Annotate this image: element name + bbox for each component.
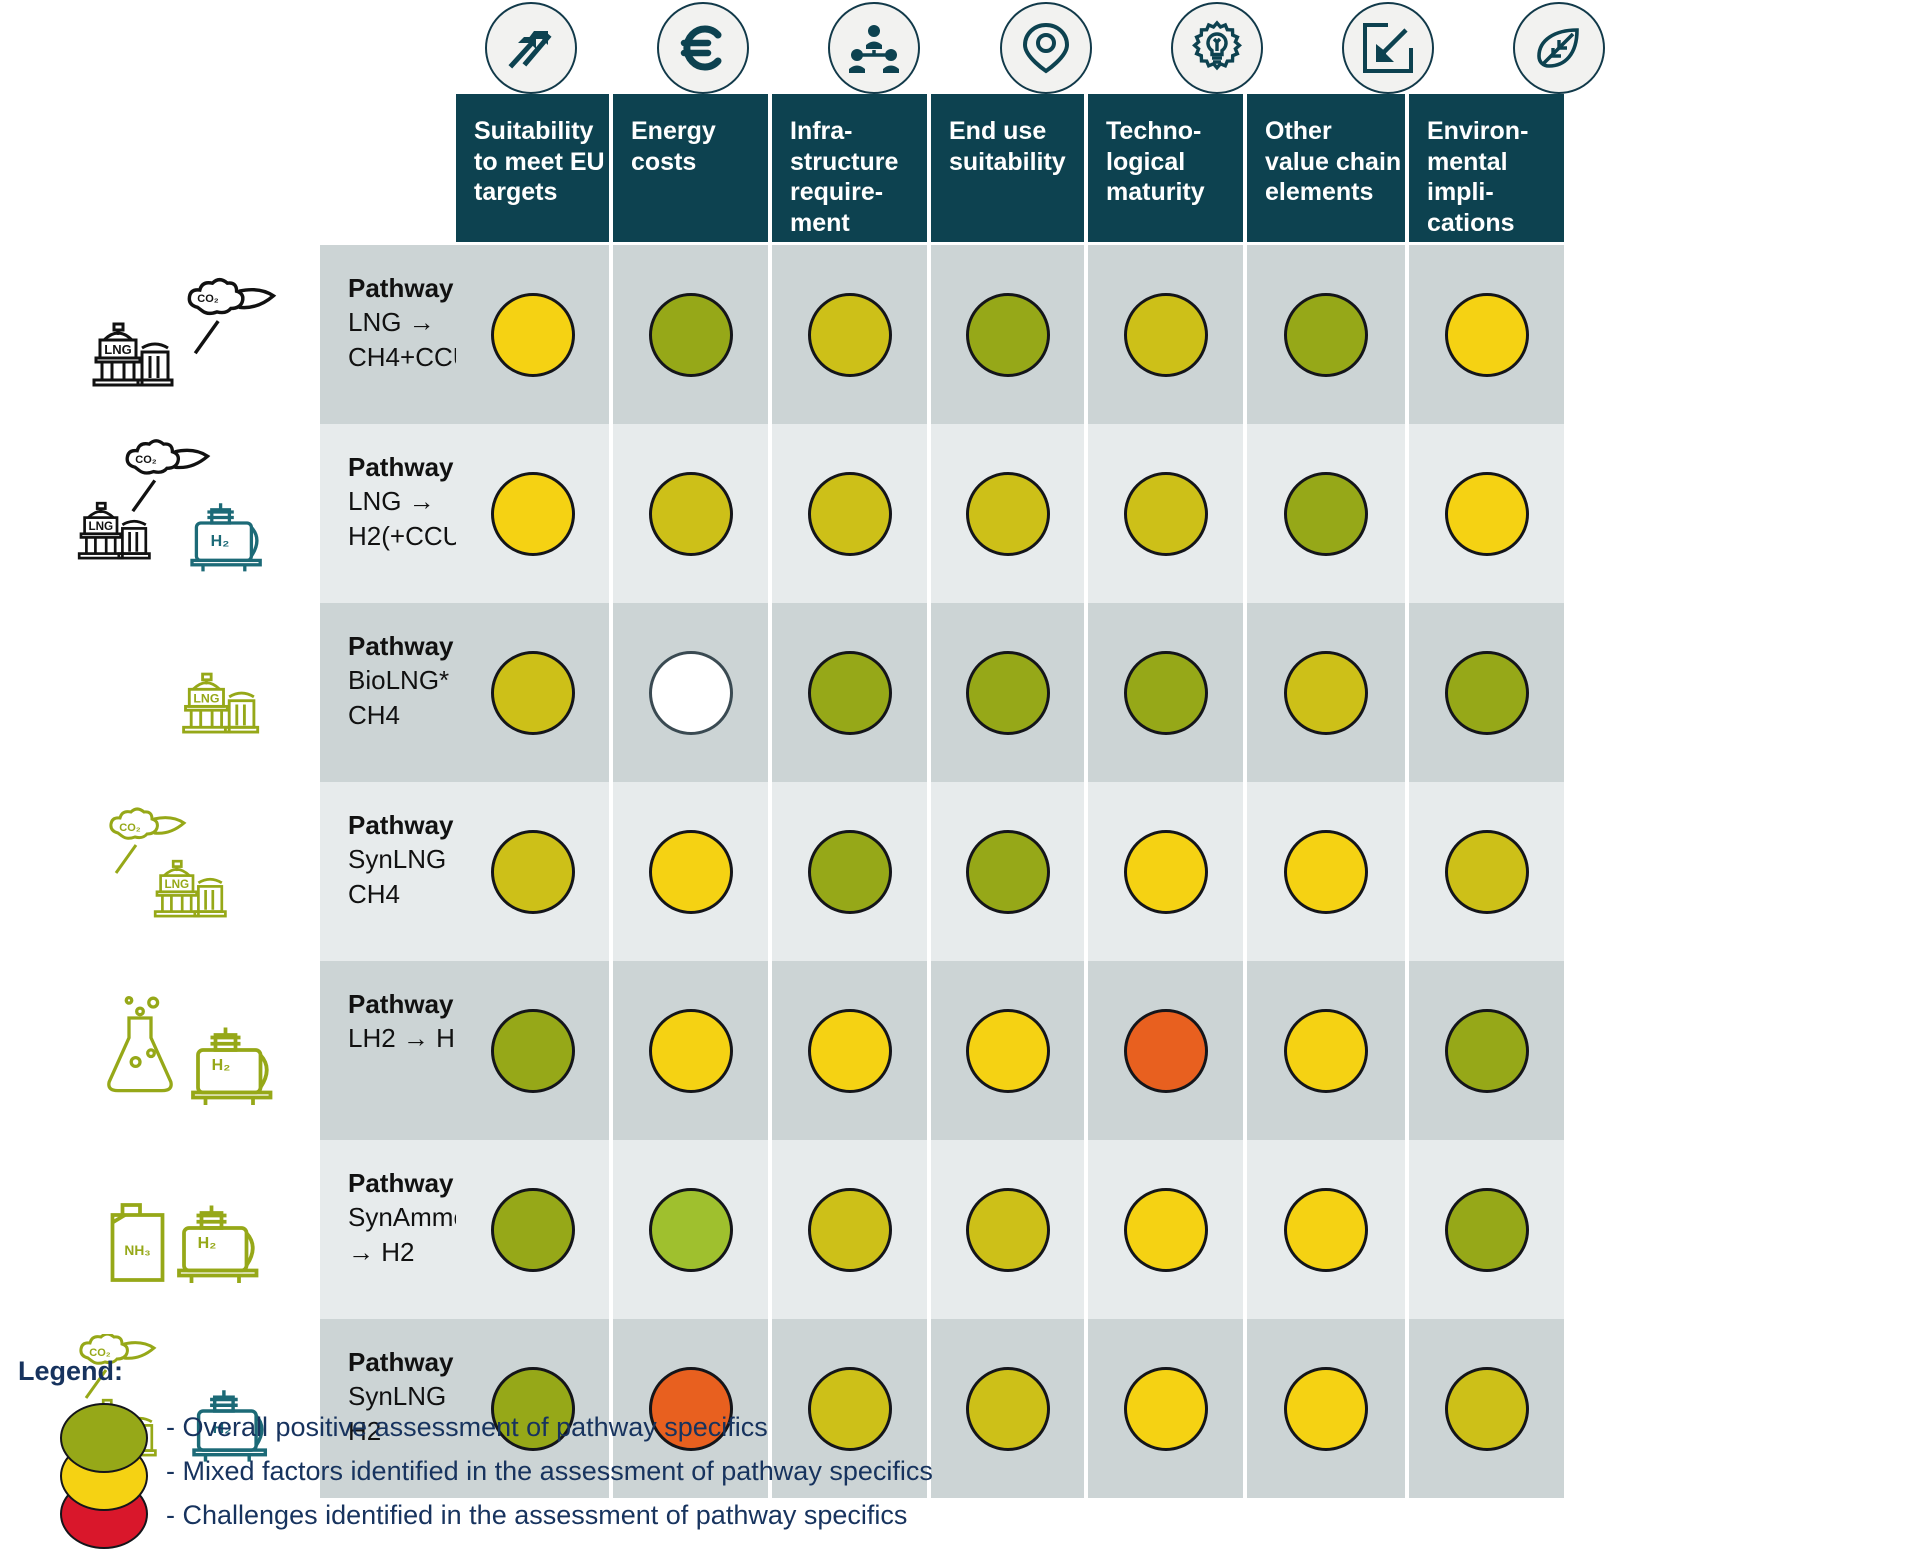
cell-pathway-3c-infrastructure-requirement[interactable]	[772, 1140, 927, 1319]
cell-pathway-0-other-value-chain-elements[interactable]	[1247, 245, 1405, 424]
column-header-environmental-implications: Environ- mental impli- cations	[1409, 94, 1564, 242]
rating-dot-yellow	[1284, 830, 1368, 914]
cell-pathway-3a-energy-costs[interactable]	[613, 961, 768, 1140]
cell-pathway-3a-other-value-chain-elements[interactable]	[1247, 961, 1405, 1140]
cell-pathway-2b-end-use-suitability[interactable]	[931, 782, 1084, 961]
svg-text:LNG: LNG	[104, 342, 131, 357]
rating-dot-yg	[1124, 472, 1208, 556]
rating-dot-yg	[808, 1188, 892, 1272]
column-header-infrastructure-requirement: Infra- structure require- ment	[772, 94, 927, 242]
ammonia-canister-h2-tank-icon: NH₃ H₂	[0, 1140, 320, 1319]
rating-dot-green	[966, 830, 1050, 914]
pathway-assessment-matrix: Suitability to meet EU targets Energy co…	[0, 0, 1920, 1564]
svg-text:NH₃: NH₃	[124, 1243, 150, 1258]
rating-dot-green	[1284, 472, 1368, 556]
cell-pathway-3c-technological-maturity[interactable]	[1088, 1140, 1243, 1319]
legend-entries: - Overall positive assessment of pathway…	[166, 1405, 933, 1537]
column-header-technological-maturity: Techno- logical maturity	[1088, 94, 1243, 242]
rating-dot-yellow	[1284, 1367, 1368, 1451]
rating-dot-green	[491, 1009, 575, 1093]
rating-dot-yg	[1445, 1367, 1529, 1451]
column-icon-row	[320, 0, 1920, 100]
euro-icon	[657, 2, 749, 94]
column-header-end-use-suitability: End use suitability	[931, 94, 1084, 242]
legend-title: Legend:	[18, 1356, 1218, 1387]
legend-dot-green	[60, 1403, 148, 1473]
rating-dot-green	[491, 1188, 575, 1272]
legend-color-stack	[60, 1403, 170, 1543]
svg-text:CO₂: CO₂	[197, 293, 219, 305]
cell-pathway-0-end-use-suitability[interactable]	[931, 245, 1084, 424]
svg-text:LNG: LNG	[88, 520, 113, 533]
cell-pathway-0-infrastructure-requirement[interactable]	[772, 245, 927, 424]
rating-dot-yg	[966, 472, 1050, 556]
rating-dot-yellow	[1445, 472, 1529, 556]
cell-pathway-3c-suitability-eu-targets[interactable]	[456, 1140, 609, 1319]
cell-pathway-2b-other-value-chain-elements[interactable]	[1247, 782, 1405, 961]
rating-dot-yg	[1445, 830, 1529, 914]
legend-entry-positive: - Overall positive assessment of pathway…	[166, 1405, 933, 1449]
flask-h2-tank-icon: H₂	[0, 961, 320, 1140]
cell-pathway-1a-energy-costs[interactable]	[613, 424, 768, 603]
table-row: LNGPathway 2A:BioLNG* -> CH4	[0, 603, 1920, 782]
cell-pathway-3a-infrastructure-requirement[interactable]	[772, 961, 927, 1140]
rating-dot-yellow	[966, 1009, 1050, 1093]
cell-pathway-3a-technological-maturity[interactable]	[1088, 961, 1243, 1140]
lng-plant-co2-h2-tank-icon: LNG CO₂ H₂	[0, 424, 320, 603]
rating-dot-yg	[966, 1188, 1050, 1272]
lng-plant-co2-capture-dark-icon: LNG CO₂	[0, 245, 320, 424]
arrow-into-box-icon	[1342, 2, 1434, 94]
cell-pathway-2b-energy-costs[interactable]	[613, 782, 768, 961]
cell-pathway-0-environmental-implications[interactable]	[1409, 245, 1564, 424]
svg-text:CO₂: CO₂	[135, 454, 157, 466]
cell-pathway-0-energy-costs[interactable]	[613, 245, 768, 424]
cell-pathway-2b-infrastructure-requirement[interactable]	[772, 782, 927, 961]
cell-pathway-1a-infrastructure-requirement[interactable]	[772, 424, 927, 603]
legend-entry-mixed: - Mixed factors identified in the assess…	[166, 1449, 933, 1493]
cell-pathway-0-technological-maturity[interactable]	[1088, 245, 1243, 424]
cell-pathway-2a-infrastructure-requirement[interactable]	[772, 603, 927, 782]
rating-dot-yellow	[808, 1009, 892, 1093]
rating-dot-yellow	[491, 472, 575, 556]
rating-dot-yellow	[649, 1009, 733, 1093]
svg-text:LNG: LNG	[193, 691, 219, 705]
rating-dot-green	[649, 293, 733, 377]
cell-pathway-1a-other-value-chain-elements[interactable]	[1247, 424, 1405, 603]
rating-dot-yg	[491, 830, 575, 914]
cell-pathway-3a-suitability-eu-targets[interactable]	[456, 961, 609, 1140]
rating-dot-yg	[1124, 293, 1208, 377]
rating-dot-green	[1284, 293, 1368, 377]
column-header-energy-costs: Energy costs	[613, 94, 768, 242]
rating-dot-green	[966, 293, 1050, 377]
legend: Legend: - Overall positive assessment of…	[18, 1356, 1218, 1543]
table-row: LNG CO₂Pathway 2B:SynLNG → CH4	[0, 782, 1920, 961]
rating-dot-green	[1124, 651, 1208, 735]
rating-dot-yellow	[649, 830, 733, 914]
leaf-icon	[1513, 2, 1605, 94]
cell-pathway-2b-environmental-implications[interactable]	[1409, 782, 1564, 961]
rating-dot-green	[1445, 1009, 1529, 1093]
rating-dot-yg	[1284, 651, 1368, 735]
cell-pathway-1a-environmental-implications[interactable]	[1409, 424, 1564, 603]
svg-text:CO₂: CO₂	[119, 822, 141, 834]
cell-pathway-2b-suitability-eu-targets[interactable]	[456, 782, 609, 961]
rating-dot-yellow	[1284, 1009, 1368, 1093]
matrix-body: LNG CO₂Pathway 0:LNG → CH4+CCUS LNG CO₂	[0, 245, 1920, 1498]
rating-dot-green	[966, 651, 1050, 735]
svg-text:H₂: H₂	[211, 533, 230, 550]
rating-dot-empty	[649, 651, 733, 735]
cell-pathway-3c-environmental-implications[interactable]	[1409, 1140, 1564, 1319]
cell-pathway-2a-technological-maturity[interactable]	[1088, 603, 1243, 782]
svg-text:H₂: H₂	[212, 1057, 231, 1074]
cell-pathway-3a-environmental-implications[interactable]	[1409, 961, 1564, 1140]
cell-pathway-0-suitability-eu-targets[interactable]	[456, 245, 609, 424]
rating-dot-yellow	[1124, 1188, 1208, 1272]
rating-dot-yellow	[1284, 1188, 1368, 1272]
table-row: LNG CO₂Pathway 0:LNG → CH4+CCUS	[0, 245, 1920, 424]
cell-pathway-1a-end-use-suitability[interactable]	[931, 424, 1084, 603]
rating-dot-yellow	[1445, 293, 1529, 377]
column-header-row: Suitability to meet EU targets Energy co…	[0, 94, 1920, 242]
table-row: H₂Pathway 3A:LH2 → H2	[0, 961, 1920, 1140]
cell-pathway-2a-end-use-suitability[interactable]	[931, 603, 1084, 782]
cell-pathway-2a-environmental-implications[interactable]	[1409, 603, 1564, 782]
rating-dot-yg	[649, 472, 733, 556]
cell-pathway-3c-end-use-suitability[interactable]	[931, 1140, 1084, 1319]
cell-pathway-3d-other-value-chain-elements[interactable]	[1247, 1319, 1405, 1498]
rating-dot-green	[1445, 651, 1529, 735]
rating-dot-gy	[649, 1188, 733, 1272]
cell-pathway-2a-energy-costs[interactable]	[613, 603, 768, 782]
rating-dot-green	[808, 651, 892, 735]
rating-dot-green	[1445, 1188, 1529, 1272]
cell-pathway-2a-other-value-chain-elements[interactable]	[1247, 603, 1405, 782]
column-header-suitability-eu-targets: Suitability to meet EU targets	[456, 94, 609, 242]
legend-entry-challenges: - Challenges identified in the assessmen…	[166, 1493, 933, 1537]
cell-pathway-2a-suitability-eu-targets[interactable]	[456, 603, 609, 782]
rating-dot-green	[808, 830, 892, 914]
table-row: NH₃ H₂Pathway 3C:SynAmmonia → H2	[0, 1140, 1920, 1319]
rating-dot-red	[1124, 1009, 1208, 1093]
rating-dot-yg	[808, 293, 892, 377]
rating-dot-yg	[491, 651, 575, 735]
map-pin-icon	[1000, 2, 1092, 94]
cell-pathway-2b-technological-maturity[interactable]	[1088, 782, 1243, 961]
svg-text:LNG: LNG	[164, 878, 189, 891]
lightbulb-gear-icon	[1171, 2, 1263, 94]
org-chart-icon	[828, 2, 920, 94]
bio-lng-plant-icon: LNG	[0, 603, 320, 782]
syn-lng-plant-co2-icon: LNG CO₂	[0, 782, 320, 961]
cell-pathway-3c-energy-costs[interactable]	[613, 1140, 768, 1319]
cell-pathway-3d-environmental-implications[interactable]	[1409, 1319, 1564, 1498]
table-row: LNG CO₂ H₂Pathway 1A:LNG → H2(+CCUS)	[0, 424, 1920, 603]
column-header-other-value-chain-elements: Other value chain elements	[1247, 94, 1405, 242]
rating-dot-yellow	[1124, 830, 1208, 914]
cell-pathway-3c-other-value-chain-elements[interactable]	[1247, 1140, 1405, 1319]
cell-pathway-1a-technological-maturity[interactable]	[1088, 424, 1243, 603]
svg-text:H₂: H₂	[198, 1235, 217, 1252]
rising-arrows-icon	[485, 2, 577, 94]
rating-dot-yellow	[491, 293, 575, 377]
rating-dot-yg	[808, 472, 892, 556]
cell-pathway-3a-end-use-suitability[interactable]	[931, 961, 1084, 1140]
cell-pathway-1a-suitability-eu-targets[interactable]	[456, 424, 609, 603]
